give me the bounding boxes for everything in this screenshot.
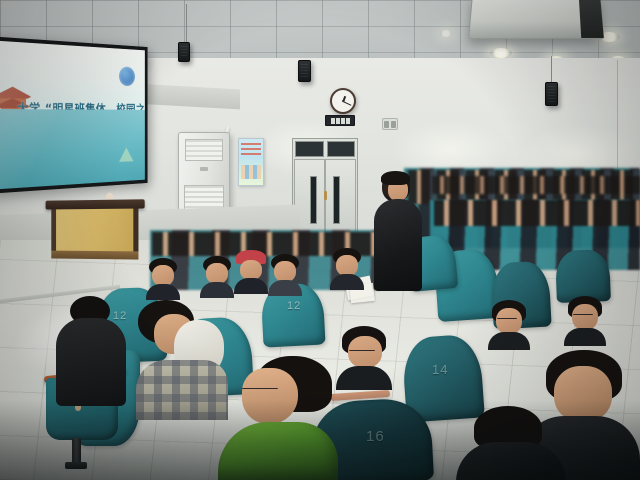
door-glass-panel xyxy=(333,176,340,224)
glasses-icon xyxy=(349,350,375,353)
lecture-hall-photo: 大学 “明星班集体、校园之星” 巡回报告会 ——力学与土木工程学院专场 xyxy=(0,0,640,480)
seat-number: 16 xyxy=(366,428,385,445)
seat-number: 12 xyxy=(287,300,301,312)
clock-minute-hand xyxy=(343,101,352,106)
face xyxy=(336,255,358,276)
face xyxy=(496,308,522,334)
torso xyxy=(564,328,606,346)
glasses-icon xyxy=(497,318,517,321)
student-green-jacket xyxy=(218,356,338,480)
torso xyxy=(488,332,530,350)
lectern xyxy=(49,199,140,262)
audience-mid-heads xyxy=(434,200,640,226)
ac-brand-badge xyxy=(200,167,208,171)
face xyxy=(242,368,298,424)
door-transom-windows xyxy=(295,141,355,157)
student-glasses-mid xyxy=(564,296,606,344)
glasses-icon xyxy=(573,314,593,317)
exit-sign xyxy=(325,115,355,126)
rear-wall-speaker-icon xyxy=(298,60,311,82)
ac-top-grille xyxy=(185,139,223,161)
glasses-icon xyxy=(242,388,278,391)
seat-number: 14 xyxy=(432,362,448,377)
student-seated xyxy=(146,258,180,298)
hair xyxy=(381,171,410,185)
poster-text-block xyxy=(241,143,261,157)
right-wall-speaker-icon xyxy=(545,82,558,106)
torso xyxy=(374,199,422,291)
projection-screen: 大学 “明星班集体、校园之星” 巡回报告会 ——力学与土木工程学院专场 xyxy=(0,36,148,194)
double-door[interactable] xyxy=(292,138,358,236)
wall-outlet-icon xyxy=(382,118,398,130)
door-glass-panel xyxy=(310,176,317,224)
projected-slide: 大学 “明星班集体、校园之星” 巡回报告会 ——力学与土木工程学院专场 xyxy=(0,40,145,190)
student-glasses-mid xyxy=(488,300,530,348)
wall-clock-icon xyxy=(330,88,356,114)
torso xyxy=(268,280,302,296)
audience-far-heads xyxy=(432,176,640,194)
clock-center xyxy=(342,100,344,102)
student-seated xyxy=(336,326,392,388)
seat-foot xyxy=(65,462,87,469)
lectern-panel xyxy=(51,209,138,252)
student-seated-red-cap xyxy=(234,250,268,292)
face xyxy=(572,304,598,330)
student-right-mid xyxy=(456,406,566,480)
torso xyxy=(336,366,392,390)
torso xyxy=(56,318,126,406)
seat-back[interactable] xyxy=(555,249,611,303)
ceiling-air-conditioner-icon xyxy=(468,0,604,39)
torso xyxy=(330,274,364,290)
plaid-coat xyxy=(136,360,228,420)
lectern-base xyxy=(51,251,138,260)
poster-figures xyxy=(241,165,261,179)
face xyxy=(240,260,262,280)
student-seated xyxy=(268,254,302,294)
green-puffer-jacket xyxy=(218,422,338,480)
torso xyxy=(200,282,234,298)
student-black-puffer xyxy=(118,300,218,420)
face xyxy=(206,263,228,284)
student-seated xyxy=(330,248,364,288)
speaker-cable xyxy=(186,4,187,44)
face xyxy=(152,265,174,286)
face xyxy=(274,261,296,282)
torso xyxy=(146,284,180,300)
torso xyxy=(456,442,566,480)
recessed-downlight xyxy=(440,30,452,37)
university-emblem-icon xyxy=(119,66,135,86)
slide-decoration xyxy=(119,147,134,162)
left-wall-speaker-icon xyxy=(178,42,190,62)
student-seated xyxy=(200,256,234,296)
student-dark-coat xyxy=(56,296,126,406)
recessed-downlight xyxy=(490,48,512,58)
safety-poster xyxy=(238,138,264,186)
door-leaf-right[interactable] xyxy=(325,159,356,234)
torso xyxy=(234,278,268,294)
door-handle-icon[interactable] xyxy=(324,191,327,200)
standing-student xyxy=(374,172,422,292)
